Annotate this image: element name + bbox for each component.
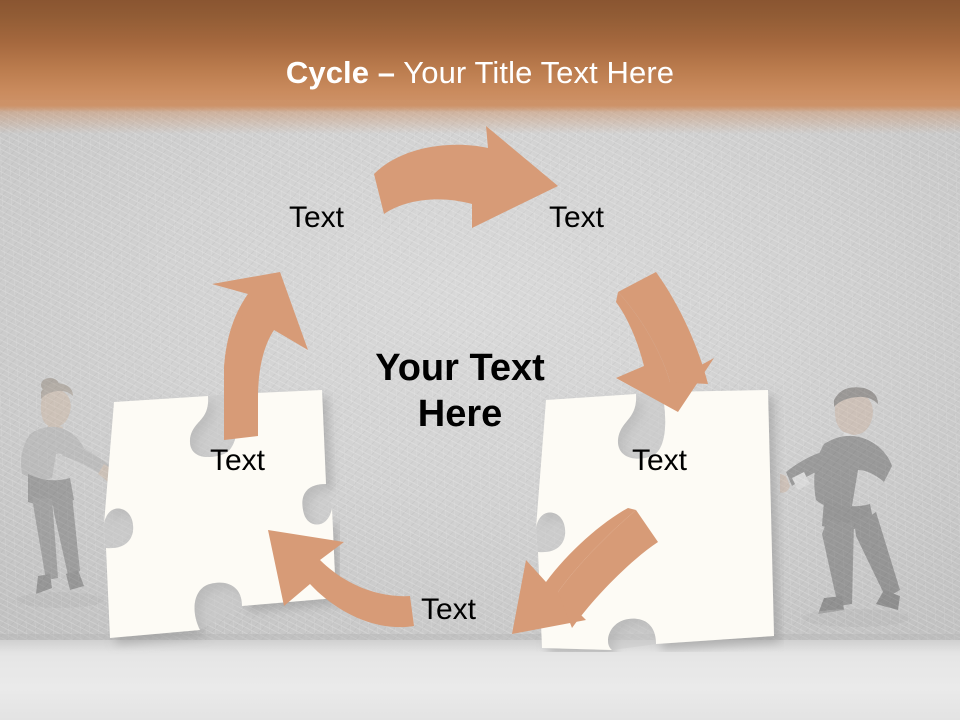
arrow-bottom-down-left [500, 508, 660, 640]
label-top-left: Text [289, 201, 344, 235]
page-title-rest: Your Title Text Here [395, 55, 674, 90]
arrow-top-curved-right [372, 124, 562, 234]
center-text-line2: Here [310, 391, 610, 437]
page-title-bold: Cycle – [286, 55, 395, 90]
header-fade [0, 100, 960, 134]
arrow-left-up [196, 272, 322, 442]
label-top-right: Text [549, 201, 604, 235]
label-bottom: Text [421, 593, 476, 627]
label-middle-right: Text [632, 444, 687, 478]
center-text-line1: Your Text [310, 345, 610, 391]
arrow-right-down [616, 262, 736, 414]
slide-canvas: Text Text Text Text Text Your Text Here … [0, 0, 960, 720]
photo-man-pushing-puzzle [780, 378, 950, 653]
center-text: Your Text Here [310, 345, 610, 437]
page-title: Cycle – Your Title Text Here [0, 53, 960, 93]
label-middle-left: Text [210, 444, 265, 478]
arrow-bottom-up-left [248, 514, 418, 634]
